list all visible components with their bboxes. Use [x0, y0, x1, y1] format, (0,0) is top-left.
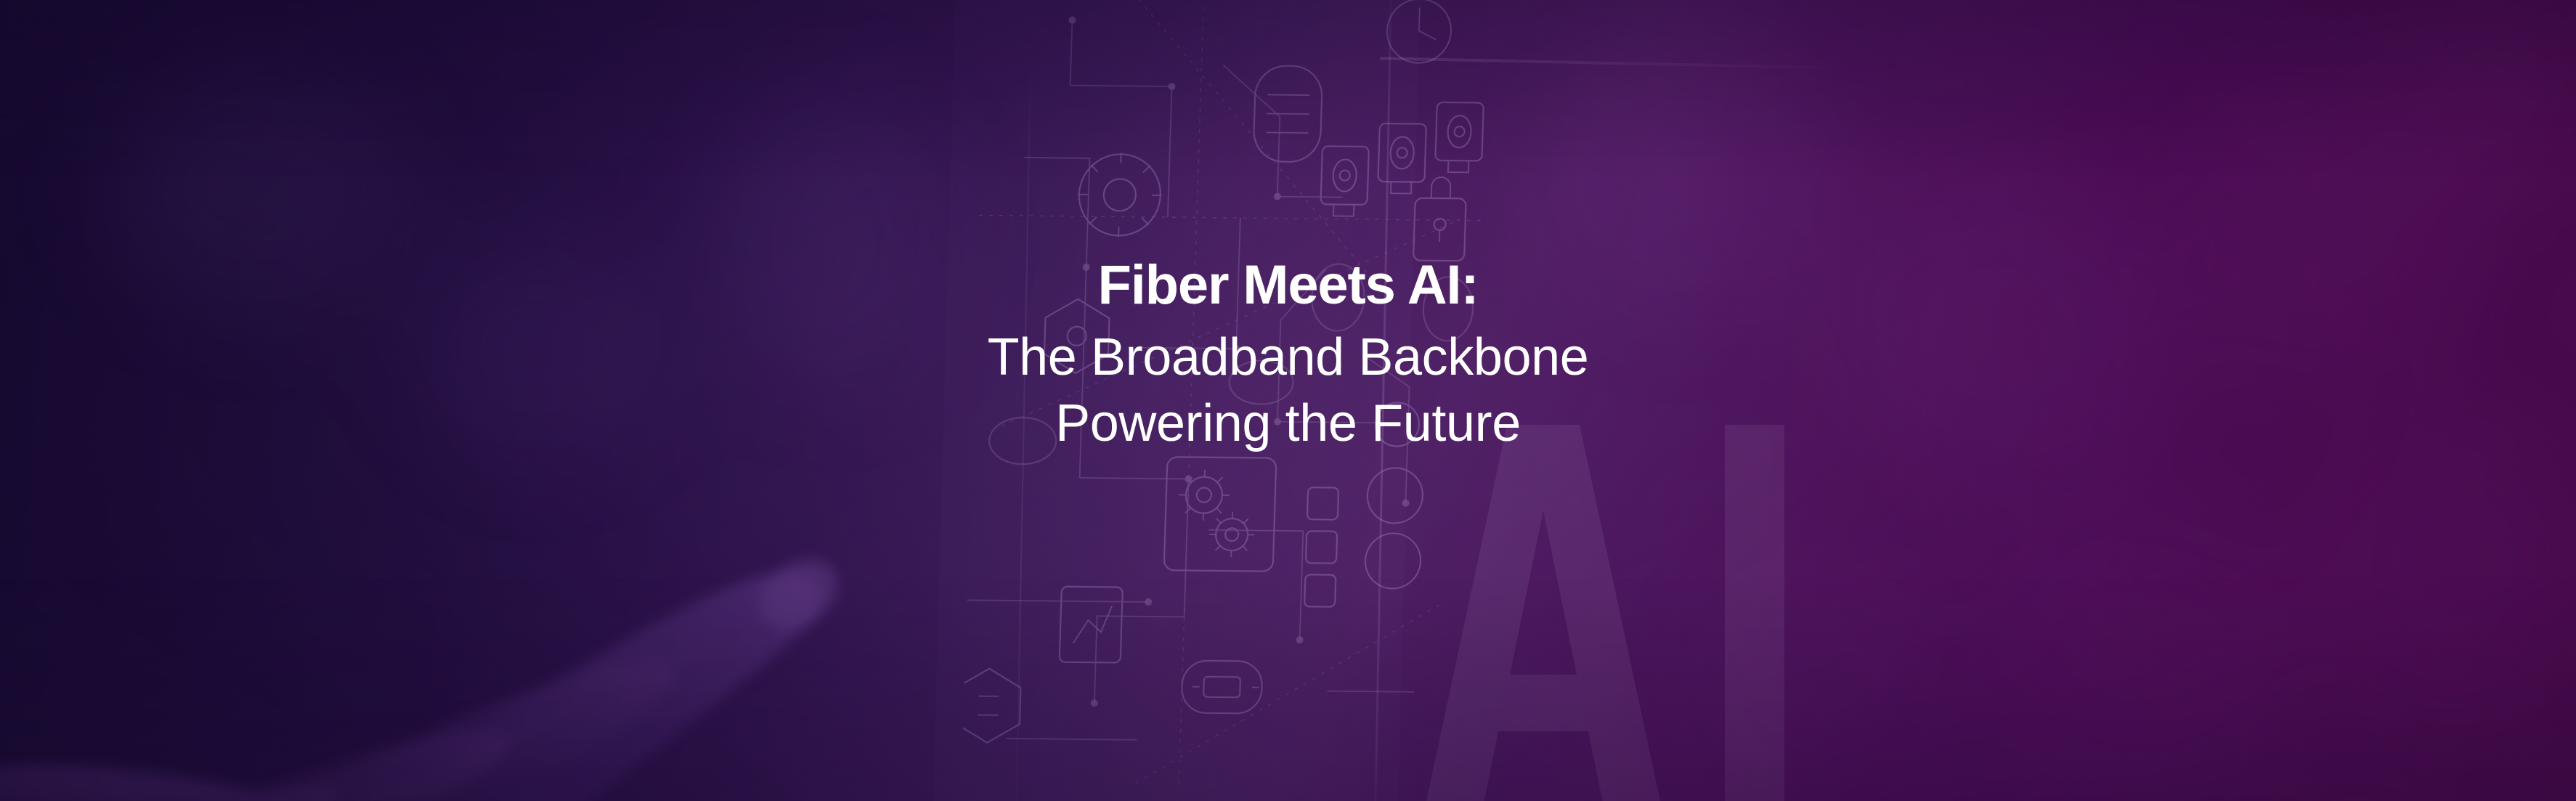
headline-line-3: Powering the Future — [29, 391, 2547, 457]
hero-headline: Fiber Meets AI: The Broadband Backbone P… — [0, 258, 2576, 456]
headline-line-2: The Broadband Backbone — [29, 325, 2547, 391]
hero-banner: Fiber Meets AI: The Broadband Backbone P… — [0, 0, 2576, 801]
headline-line-1: Fiber Meets AI: — [29, 258, 2547, 313]
